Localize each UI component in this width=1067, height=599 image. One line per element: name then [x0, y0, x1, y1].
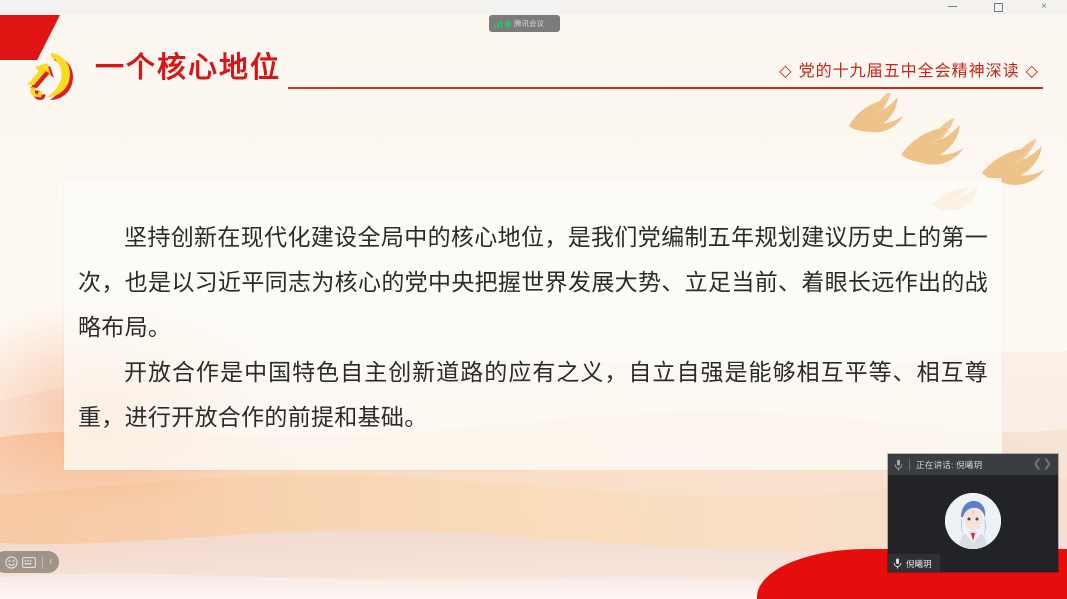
- screen-root: 一个核心地位 ◇ 党的十九届五中全会精神深读 ◇ 坚持创新在现代化建设全局中的核…: [0, 0, 1067, 599]
- recording-dot-icon: [505, 21, 511, 27]
- title-underline: [288, 87, 1043, 89]
- signal-bars-icon: [494, 20, 502, 28]
- minimize-button[interactable]: [929, 0, 975, 15]
- close-button[interactable]: ×: [1021, 0, 1067, 15]
- mic-status-icon: [893, 558, 902, 569]
- party-emblem-icon: [17, 47, 91, 109]
- paragraph-2: 开放合作是中国特色自主创新道路的应有之义，自立自强是能够相互平等、相互尊重，进行…: [72, 351, 994, 441]
- participant-name-badge: 倪曦玥: [888, 554, 940, 572]
- maximize-button[interactable]: [975, 0, 1021, 15]
- slide-subject-label: ◇ 党的十九届五中全会精神深读 ◇: [779, 57, 1039, 81]
- video-feed-area[interactable]: 倪曦玥: [888, 475, 1058, 572]
- collapse-toolbar-button[interactable]: ‹: [49, 557, 52, 567]
- annotation-toolbar[interactable]: ‹: [0, 551, 59, 573]
- page-title: 一个核心地位: [95, 53, 281, 82]
- slide-header: 一个核心地位 ◇ 党的十九届五中全会精神深读 ◇: [0, 33, 1067, 103]
- paragraph-1: 坚持创新在现代化建设全局中的核心地位，是我们党编制五年规划建议历史上的第一次，也…: [72, 216, 994, 351]
- content-card: 坚持创新在现代化建设全局中的核心地位，是我们党编制五年规划建议历史上的第一次，也…: [64, 178, 1002, 470]
- toolbar-divider: [42, 556, 43, 569]
- chevron-left-icon[interactable]: ❮: [1033, 459, 1042, 470]
- window-controls: ×: [929, 0, 1067, 15]
- emoji-icon[interactable]: [4, 556, 18, 568]
- active-speaker-label: 正在讲话: 倪曦玥: [916, 458, 982, 470]
- tencent-meeting-indicator[interactable]: 腾讯会议: [489, 15, 560, 32]
- annotate-icon[interactable]: [22, 556, 36, 568]
- microphone-icon: [894, 459, 903, 471]
- close-icon: ×: [1041, 2, 1047, 12]
- avatar: [945, 493, 1001, 549]
- video-participant-tile[interactable]: 正在讲话: 倪曦玥 ❮ ❯: [888, 454, 1058, 572]
- expand-chevrons-icon[interactable]: ❮ ❯: [1033, 459, 1052, 470]
- participant-name: 倪曦玥: [906, 557, 932, 569]
- meeting-app-name: 腾讯会议: [514, 18, 544, 28]
- window-title-bar: ×: [0, 0, 1067, 15]
- video-tile-header[interactable]: 正在讲话: 倪曦玥 ❮ ❯: [888, 454, 1058, 475]
- header-divider: [909, 459, 910, 471]
- chevron-right-icon[interactable]: ❯: [1043, 459, 1052, 470]
